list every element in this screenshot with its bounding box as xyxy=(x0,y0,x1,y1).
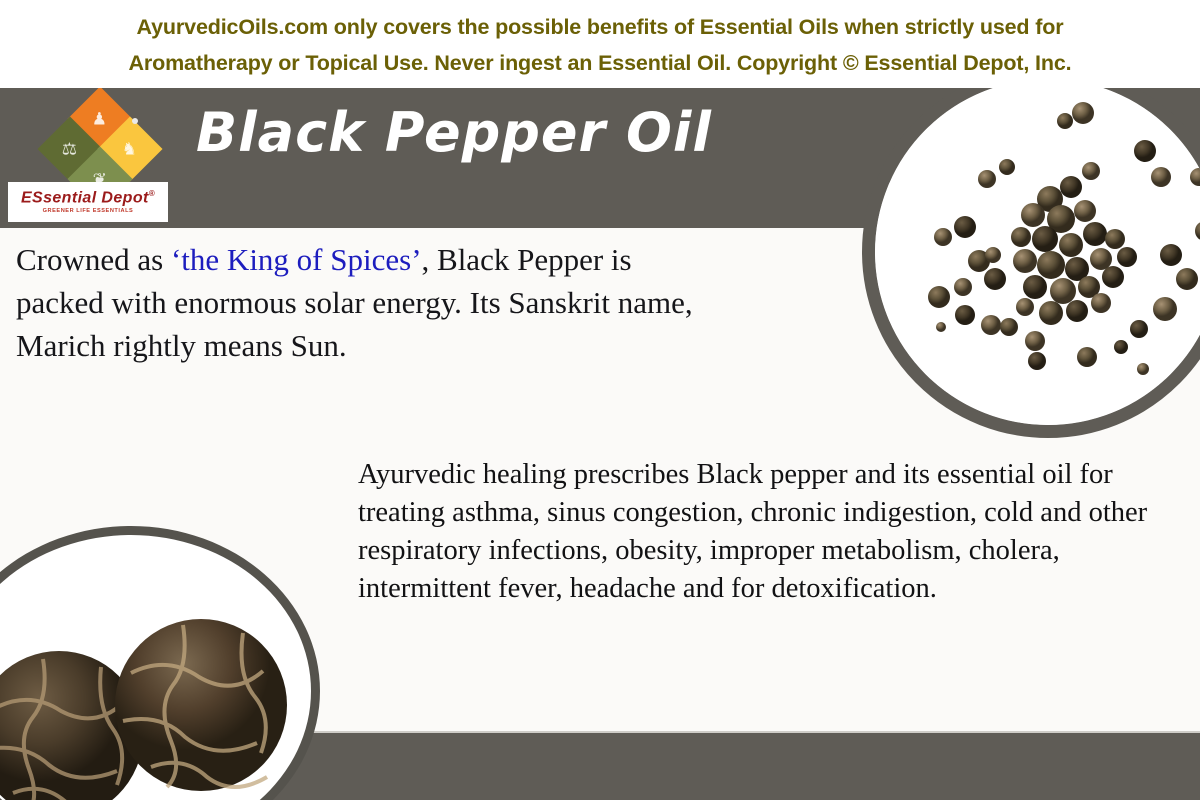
king-of-spices-highlight: ‘the King of Spices’ xyxy=(171,242,422,277)
brand-tagline: GREENER LIFE ESSENTIALS xyxy=(43,208,134,214)
benefits-paragraph: Ayurvedic healing prescribes Black peppe… xyxy=(358,456,1148,608)
infographic-card: ♟ ⚖ ♞ ❦ ESsential Depot® GREENER LIFE ES… xyxy=(0,88,1200,800)
peppercorns-scatter-photo xyxy=(862,88,1200,438)
brand-name-text: ESsential Depot xyxy=(21,189,149,206)
brand-name: ESsential Depot® xyxy=(21,190,155,206)
greener-life-diamonds: ♟ ⚖ ♞ ❦ xyxy=(46,100,154,188)
intro-paragraph: Crowned as ‘the King of Spices’, Black P… xyxy=(16,238,706,367)
essential-depot-logo[interactable]: ♟ ⚖ ♞ ❦ ESsential Depot® GREENER LIFE ES… xyxy=(28,100,180,226)
registered-mark: ® xyxy=(149,189,155,198)
page-title: Black Pepper Oil xyxy=(196,106,712,160)
disclaimer-banner: AyurvedicOils.com only covers the possib… xyxy=(0,0,1200,88)
disclaimer-line-1: AyurvedicOils.com only covers the possib… xyxy=(137,9,1064,45)
infographic-page: AyurvedicOils.com only covers the possib… xyxy=(0,0,1200,800)
intro-text-before: Crowned as xyxy=(16,242,171,277)
peppercorns-scatter-illustration xyxy=(875,88,1200,425)
peppercorns-scatter-backdrop xyxy=(875,88,1200,425)
peppercorns-closeup-illustration xyxy=(0,535,311,800)
disclaimer-line-2: Aromatherapy or Topical Use. Never inges… xyxy=(129,45,1072,81)
logo-registered-dot xyxy=(132,118,138,124)
essential-depot-wordmark: ESsential Depot® GREENER LIFE ESSENTIALS xyxy=(8,182,168,222)
